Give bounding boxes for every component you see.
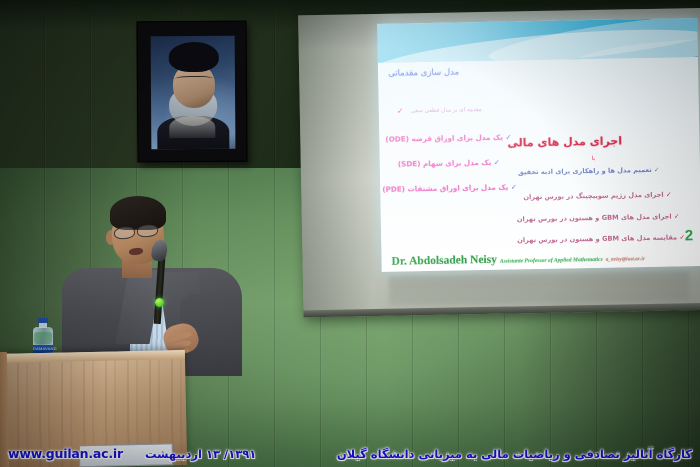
slide-right-bullet-1: ✓ اجرای مدل رژیم سوییچینگ در بورس تهران: [523, 191, 671, 202]
bottle-brand-text: DAMAVAND: [33, 346, 53, 351]
slide-left-bullet-0: ✓ یک مدل برای اوراق قرضه (ODE): [385, 132, 511, 143]
slide-left-bullet-1: ✓ یک مدل برای سهام (SDE): [398, 158, 500, 169]
framed-wall-portrait: [137, 21, 248, 163]
microphone-led-indicator: [155, 298, 164, 307]
slide-check-icon: ✓: [397, 106, 404, 115]
projected-slide: مدل سازی مقدماتی ✓ مقدمه ای بر مدل قطعی …: [377, 18, 700, 272]
slide-right-bullet-2: ✓ اجرای مدل های GBM و هستون در بورس تهرا…: [517, 212, 680, 223]
bullet-check-icon: ✓: [494, 158, 500, 167]
website-url: www.guilan.ac.ir: [8, 446, 123, 461]
author-role: Assistante Professor of Applied Mathemat…: [500, 257, 603, 265]
portrait-hanging-wire: [190, 6, 191, 22]
slide-title: مدل سازی مقدماتی: [388, 67, 459, 78]
portrait-turban: [169, 42, 219, 72]
portrait-glasses-icon: [175, 76, 213, 83]
slide-right-heading: اجرای مدل های مالی: [507, 134, 622, 149]
slide-subtitle: مقدمه ای بر مدل قطعی سعی: [411, 107, 482, 114]
bullet-text: یک مدل برای اوراق مشتقات (PDE): [382, 183, 508, 194]
bottle-neck: [39, 323, 47, 328]
slide-right-tag: با: [592, 156, 595, 162]
portrait-image: [151, 36, 236, 150]
bullet-text: مقایسه مدل های GBM و هستون در بورس تهران: [517, 233, 677, 244]
bullet-check-icon: ✓: [511, 182, 517, 191]
presenter-at-podium: [56, 196, 246, 376]
bullet-text: یک مدل برای اوراق قرضه (ODE): [385, 133, 503, 144]
slide-page-number: 2: [685, 227, 694, 244]
bullet-check-icon: ✓: [666, 191, 672, 199]
slide-right-bullet-0: ✓ تعمیم مدل ها و راهکاری برای ادبه تحقیق: [518, 166, 660, 177]
projection-screen: مدل سازی مقدماتی ✓ مقدمه ای بر مدل قطعی …: [298, 8, 700, 317]
event-title: کارگاه آنالیز تصادفی و ریاضیات مالی به م…: [337, 447, 692, 461]
event-date: ۱۳۹۱/ ۱۳ اردیبهشت: [145, 447, 256, 461]
presenter-hair: [110, 196, 166, 230]
slide-header-banner: [377, 18, 698, 63]
bullet-check-icon: ✓: [654, 166, 660, 174]
bottle-green-wrap: [34, 332, 52, 344]
author-name: Dr. Abdolsadeh Neisy: [391, 254, 497, 268]
conference-photo: مدل سازی مقدماتی ✓ مقدمه ای بر مدل قطعی …: [0, 0, 700, 467]
bullet-check-icon: ✓: [674, 212, 680, 220]
bottle-cap: [38, 318, 48, 323]
screen-smudge: [389, 270, 689, 305]
slide-left-bullet-2: ✓ یک مدل برای اوراق مشتقات (PDE): [382, 182, 517, 193]
bullet-text: اجرای مدل رژیم سوییچینگ در بورس تهران: [523, 191, 663, 202]
author-email: a_neisy@iust.ac.ir: [606, 256, 645, 263]
caption-bar: www.guilan.ac.ir ۱۳۹۱/ ۱۳ اردیبهشت کارگا…: [0, 437, 700, 467]
slide-author-line: Dr. Abdolsadeh Neisy Assistante Professo…: [391, 251, 644, 268]
bullet-text: اجرای مدل های GBM و هستون در بورس تهران: [517, 213, 672, 224]
bullet-text: یک مدل برای سهام (SDE): [398, 158, 492, 169]
slide-right-bullet-3: ✓ مقایسه مدل های GBM و هستون در بورس تهر…: [517, 233, 685, 244]
bullet-text: تعمیم مدل ها و راهکاری برای ادبه تحقیق: [518, 166, 652, 176]
slide-body: مدل سازی مقدماتی ✓ مقدمه ای بر مدل قطعی …: [378, 57, 700, 272]
